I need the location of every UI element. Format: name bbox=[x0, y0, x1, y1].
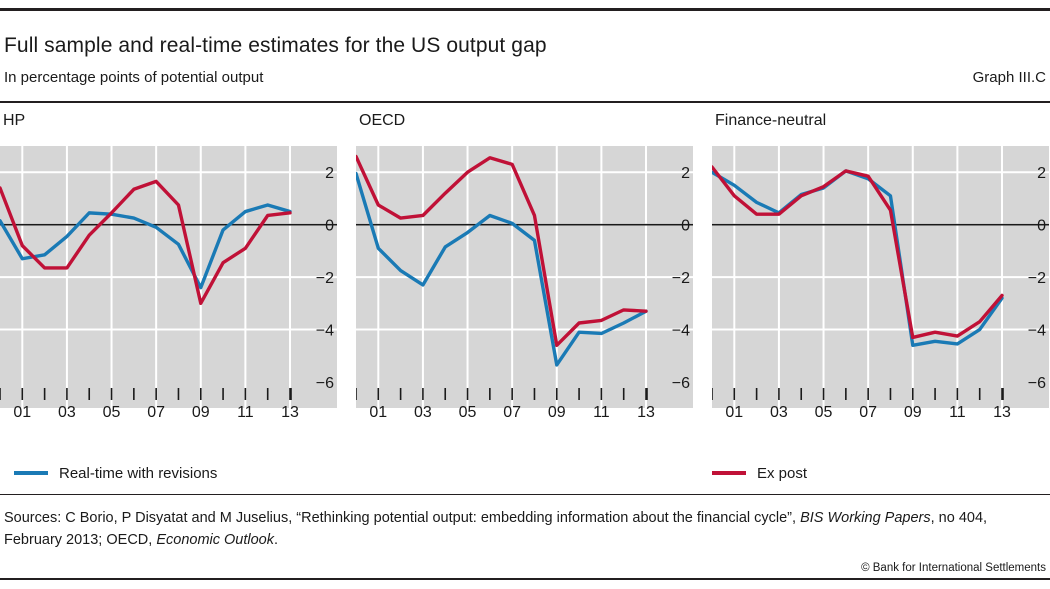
sources-note: Sources: C Borio, P Disyatat and M Jusel… bbox=[4, 507, 1046, 552]
panel-title-oecd: OECD bbox=[359, 112, 405, 130]
bottom-rule bbox=[0, 578, 1050, 580]
y-axis-label: 2 bbox=[1037, 165, 1046, 182]
x-axis-label: 11 bbox=[949, 404, 966, 420]
page-title: Full sample and real-time estimates for … bbox=[4, 34, 547, 58]
y-axis-label: −6 bbox=[1028, 375, 1046, 392]
top-rule bbox=[0, 8, 1050, 11]
x-axis-label: 09 bbox=[904, 404, 922, 420]
y-axis-label: −2 bbox=[1028, 270, 1046, 287]
plot-area-finance-neutral: 0103050709111320−2−4−6 bbox=[712, 142, 1049, 420]
x-axis-label: 07 bbox=[147, 404, 165, 420]
y-axis-label: −6 bbox=[672, 375, 690, 392]
x-axis-label: 01 bbox=[13, 404, 31, 420]
footer-rule bbox=[0, 494, 1050, 495]
y-axis-label: −2 bbox=[316, 270, 334, 287]
x-axis-label: 03 bbox=[770, 404, 788, 420]
copyright-notice: © Bank for International Settlements bbox=[861, 562, 1046, 574]
y-axis-label: −4 bbox=[672, 323, 690, 340]
y-axis-label: 2 bbox=[681, 165, 690, 182]
panel-container: HP 0103050709111320−2−4−6 OECD 010305070… bbox=[0, 112, 1050, 450]
sources-text-prefix: Sources: C Borio, P Disyatat and M Jusel… bbox=[4, 510, 800, 526]
y-axis-label: 0 bbox=[325, 218, 334, 235]
chart-subtitle: In percentage points of potential output bbox=[4, 69, 263, 86]
legend-swatch-real-time bbox=[14, 471, 48, 475]
x-axis-label: 03 bbox=[414, 404, 432, 420]
x-axis-label: 05 bbox=[103, 404, 121, 420]
y-axis-label: 0 bbox=[681, 218, 690, 235]
x-axis-label: 01 bbox=[369, 404, 387, 420]
x-axis-label: 03 bbox=[58, 404, 76, 420]
legend-label-ex-post: Ex post bbox=[757, 465, 807, 482]
legend-swatch-ex-post bbox=[712, 471, 746, 475]
x-axis-label: 11 bbox=[237, 404, 254, 420]
x-axis-label: 11 bbox=[593, 404, 610, 420]
x-axis-label: 13 bbox=[281, 404, 299, 420]
x-axis-label: 05 bbox=[815, 404, 833, 420]
header-rule bbox=[0, 101, 1050, 103]
y-axis-label: 0 bbox=[1037, 218, 1046, 235]
y-axis-label: 2 bbox=[325, 165, 334, 182]
panel-title-hp: HP bbox=[3, 112, 25, 130]
y-axis-label: −4 bbox=[1028, 323, 1046, 340]
x-axis-label: 05 bbox=[459, 404, 477, 420]
legend-item-real-time: Real-time with revisions bbox=[14, 462, 217, 484]
x-axis-label: 09 bbox=[548, 404, 566, 420]
x-axis-label: 09 bbox=[192, 404, 210, 420]
legend-item-ex-post: Ex post bbox=[712, 462, 807, 484]
chart-panel-hp: HP 0103050709111320−2−4−6 bbox=[0, 112, 337, 450]
x-axis-label: 13 bbox=[637, 404, 655, 420]
sources-italic-economic-outlook: Economic Outlook bbox=[156, 532, 274, 548]
chart-panel-finance-neutral: Finance-neutral 0103050709111320−2−4−6 bbox=[712, 112, 1049, 450]
sources-italic-bis-working-papers: BIS Working Papers bbox=[800, 510, 931, 526]
legend-label-real-time: Real-time with revisions bbox=[59, 465, 217, 482]
plot-area-hp: 0103050709111320−2−4−6 bbox=[0, 142, 337, 420]
x-axis-label: 13 bbox=[993, 404, 1011, 420]
panel-title-finance-neutral: Finance-neutral bbox=[715, 112, 826, 130]
x-axis-label: 01 bbox=[725, 404, 743, 420]
chart-panel-oecd: OECD 0103050709111320−2−4−6 bbox=[356, 112, 693, 450]
plot-svg: 0103050709111320−2−4−6 bbox=[712, 142, 1049, 420]
graph-number: Graph III.C bbox=[973, 69, 1046, 86]
x-axis-label: 07 bbox=[503, 404, 521, 420]
x-axis-label: 07 bbox=[859, 404, 877, 420]
plot-svg: 0103050709111320−2−4−6 bbox=[0, 142, 337, 420]
plot-area-oecd: 0103050709111320−2−4−6 bbox=[356, 142, 693, 420]
y-axis-label: −6 bbox=[316, 375, 334, 392]
plot-svg: 0103050709111320−2−4−6 bbox=[356, 142, 693, 420]
sources-text-suffix: . bbox=[274, 532, 278, 548]
y-axis-label: −4 bbox=[316, 323, 334, 340]
chart-legend: Real-time with revisions Ex post bbox=[0, 462, 1050, 486]
y-axis-label: −2 bbox=[672, 270, 690, 287]
